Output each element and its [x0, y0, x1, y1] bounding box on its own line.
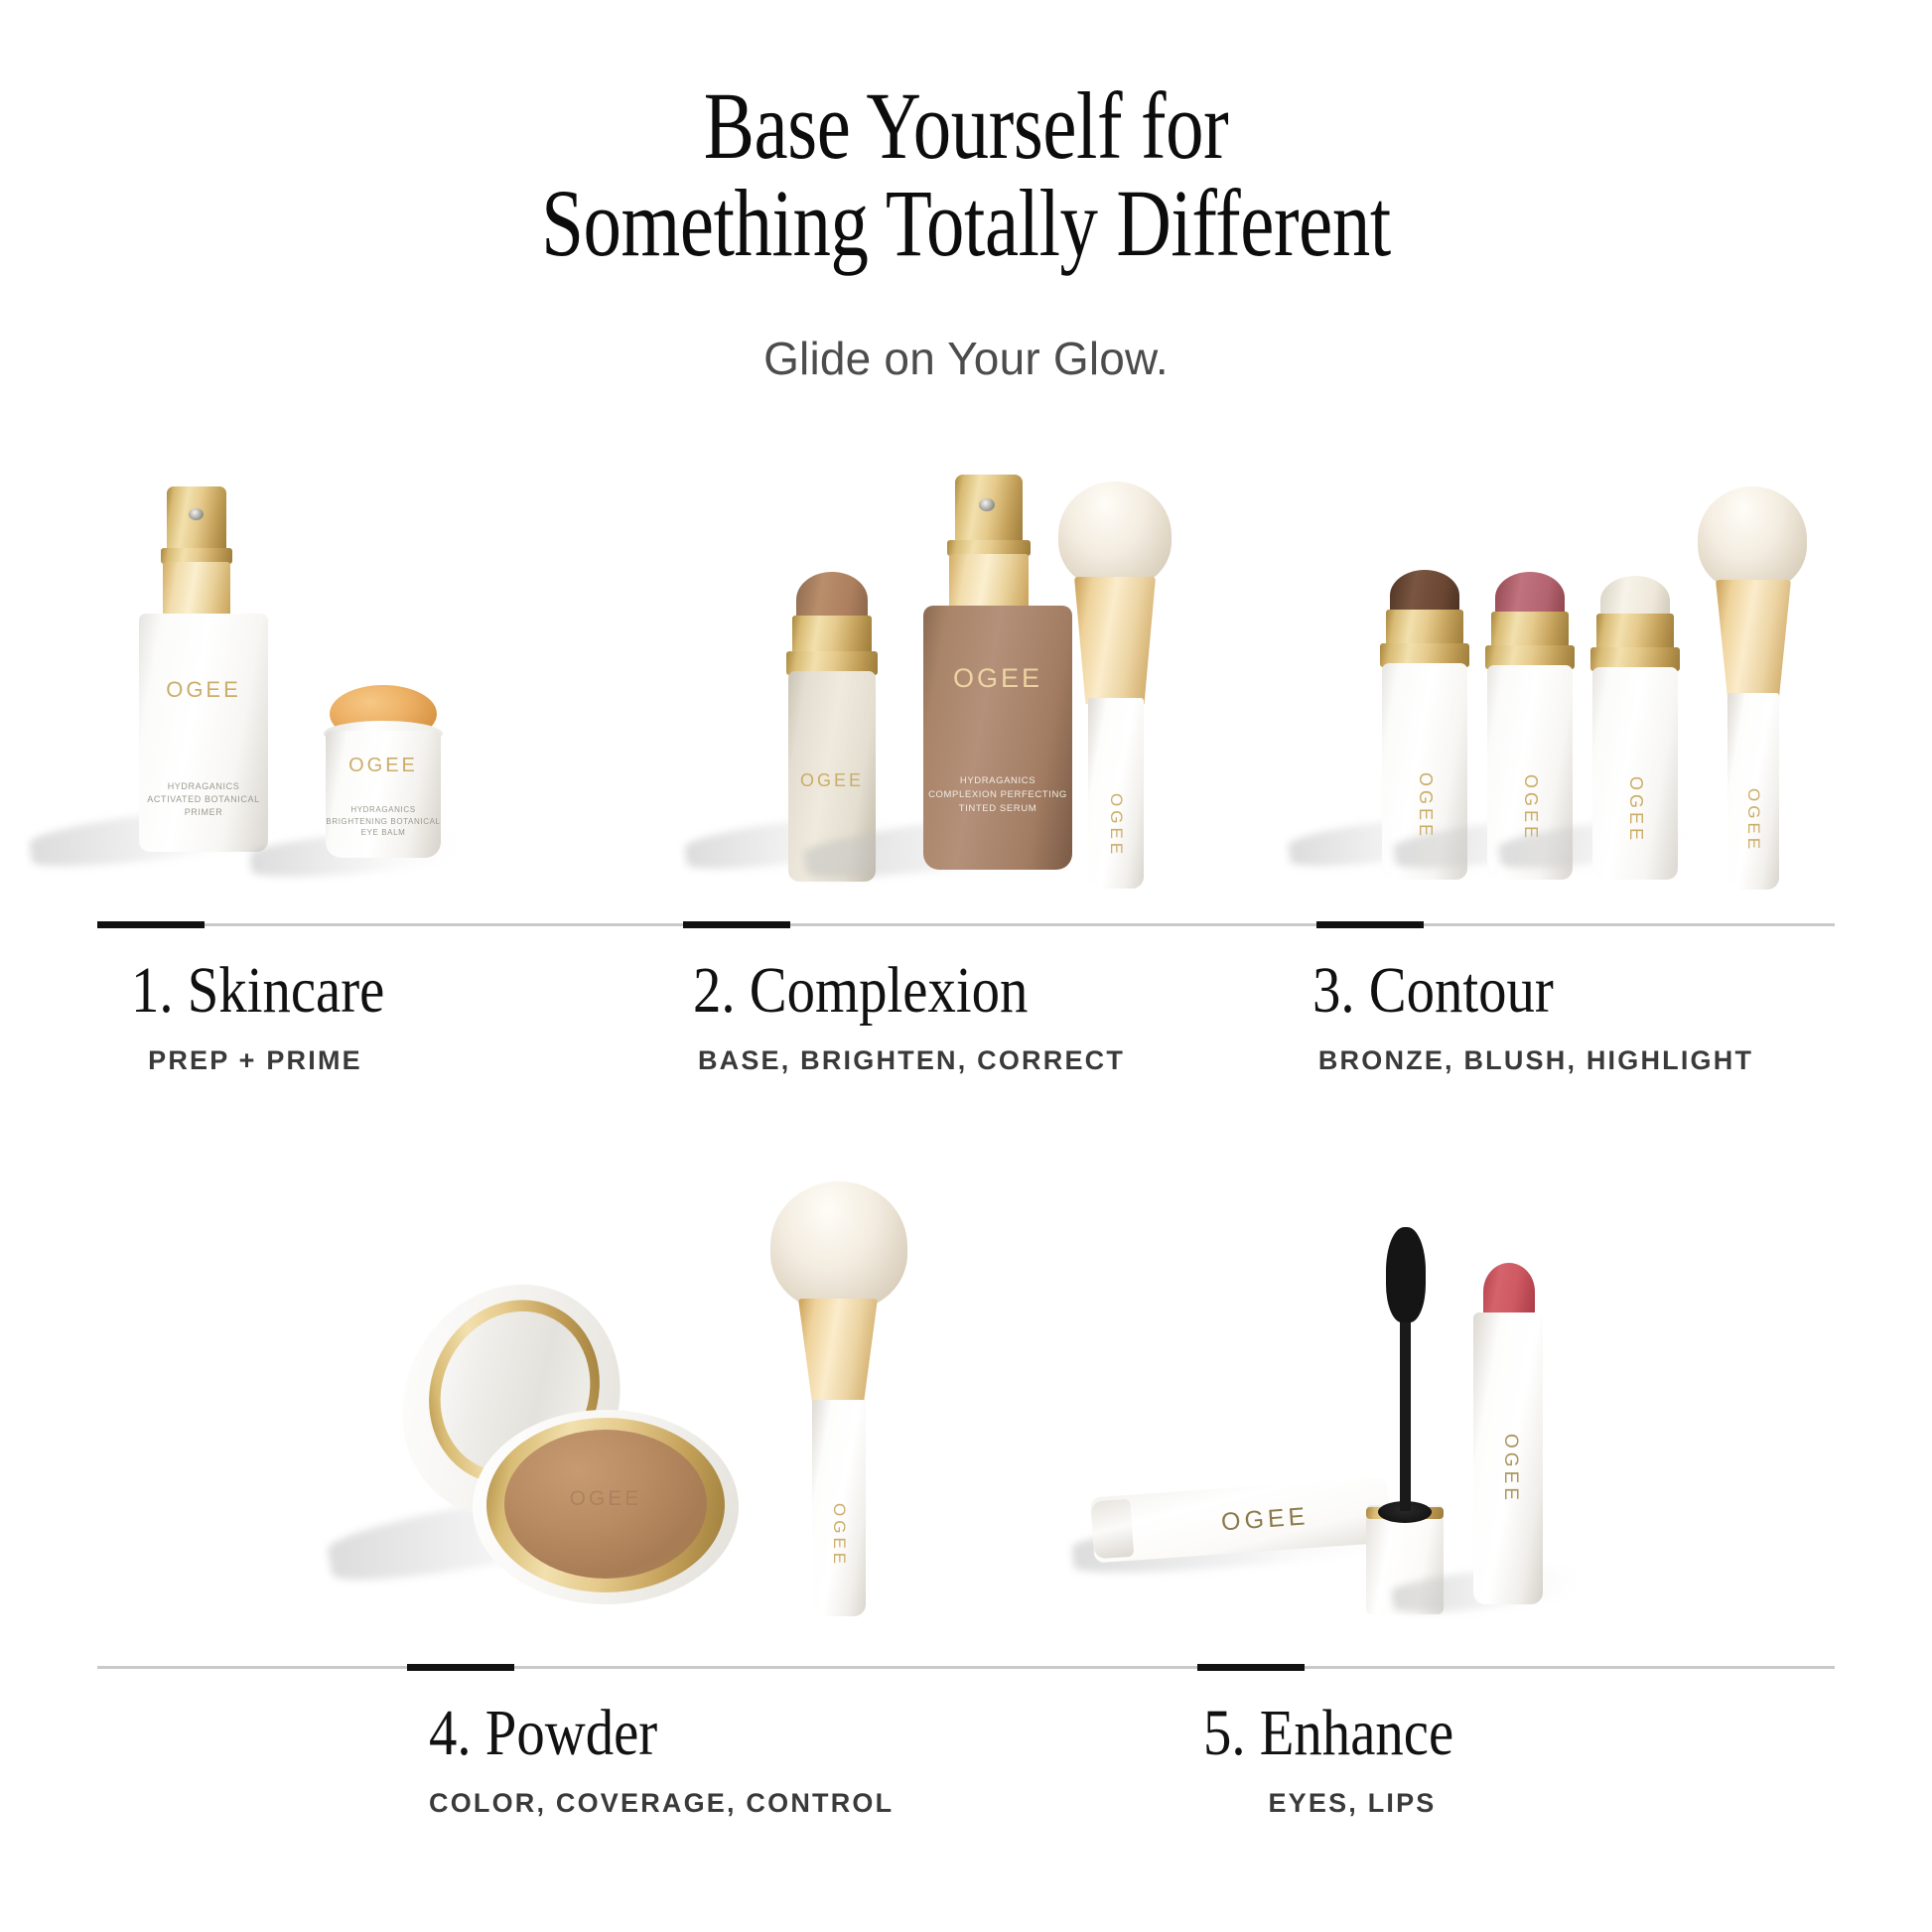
fineprint-line-2: BRIGHTENING BOTANICAL	[326, 816, 441, 828]
brand-logo: OGEE	[1220, 1502, 1310, 1537]
divider-tick-complexion	[683, 921, 790, 928]
brush-handle: OGEE	[1088, 698, 1144, 889]
brush-handle: OGEE	[1727, 693, 1779, 890]
product-tinted-sculpted-lip-oil-crayon: OGEE	[1461, 1263, 1557, 1612]
brush-bristles	[770, 1181, 907, 1311]
serum-bottle-body: OGEE HYDRAGANICS COMPLEXION PERFECTING T…	[923, 606, 1072, 870]
section-subtitle: BRONZE, BLUSH, HIGHLIGHT	[1312, 1045, 1759, 1076]
page-title: Base Yourself for Something Totally Diff…	[194, 77, 1739, 272]
product-fineprint: HYDRAGANICS BRIGHTENING BOTANICAL EYE BA…	[326, 804, 441, 839]
brand-logo: OGEE	[1415, 772, 1436, 840]
pump-nozzle-dot	[979, 498, 995, 511]
fineprint-line-3: PRIMER	[139, 806, 268, 819]
brand-logo: OGEE	[1499, 1434, 1521, 1504]
product-sculpted-face-stick-highlight: OGEE	[1588, 576, 1684, 892]
product-fineprint: HYDRAGANICS ACTIVATED BOTANICAL PRIMER	[139, 780, 268, 819]
stick-collar-upper	[1386, 610, 1463, 645]
brand-logo: OGEE	[923, 663, 1072, 694]
mascara-wand-stem	[1400, 1312, 1411, 1511]
divider-tick-powder	[407, 1664, 514, 1671]
fineprint-line-3: EYE BALM	[326, 827, 441, 839]
stick-collar-upper	[1596, 614, 1674, 649]
section-label-contour: 3. Contour BRONZE, BLUSH, HIGHLIGHT	[1312, 955, 1759, 1076]
section-label-complexion: 2. Complexion BASE, BRIGHTEN, CORRECT	[693, 955, 1130, 1076]
product-fineprint: HYDRAGANICS COMPLEXION PERFECTING TINTED…	[923, 774, 1072, 815]
brush-ferrule	[1716, 580, 1791, 699]
brush-ferrule	[798, 1299, 878, 1406]
section-label-enhance: 5. Enhance EYES, LIPS	[1203, 1698, 1501, 1819]
brand-logo: OGEE	[1743, 788, 1763, 853]
product-complexion-brush: OGEE	[1052, 482, 1177, 889]
section-label-skincare: 1. Skincare PREP + PRIME	[131, 955, 426, 1076]
headline-line-2: Something Totally Different	[194, 175, 1739, 272]
brand-logo: OGEE	[788, 770, 876, 791]
section-subtitle: COLOR, COVERAGE, CONTROL	[429, 1788, 856, 1819]
product-pressed-powder-compact: OGEE	[387, 1291, 755, 1618]
row-2-divider	[97, 1666, 1835, 1669]
poster-canvas: Base Yourself for Something Totally Diff…	[0, 0, 1932, 1932]
product-contour-brush: OGEE	[1694, 486, 1813, 892]
brush-handle: OGEE	[812, 1400, 866, 1616]
jar-body: OGEE HYDRAGANICS BRIGHTENING BOTANICAL E…	[326, 731, 441, 858]
section-subtitle: EYES, LIPS	[1203, 1788, 1501, 1819]
fineprint-line-1: HYDRAGANICS	[923, 774, 1072, 788]
fineprint-line-2: ACTIVATED BOTANICAL	[139, 793, 268, 806]
stick-collar-upper	[792, 616, 872, 653]
section-subtitle: PREP + PRIME	[131, 1045, 379, 1076]
mascara-wand-brush	[1386, 1227, 1426, 1322]
section-title: 2. Complexion	[693, 955, 1068, 1028]
bottle-body: OGEE HYDRAGANICS ACTIVATED BOTANICAL PRI…	[139, 614, 268, 852]
mascara-tube-end	[1090, 1499, 1134, 1560]
fineprint-line-2: COMPLEXION PERFECTING	[923, 788, 1072, 802]
brush-ferrule	[1074, 577, 1156, 704]
section-title: 5. Enhance	[1203, 1698, 1459, 1770]
section-title: 3. Contour	[1312, 955, 1697, 1028]
brush-bristles	[1058, 482, 1172, 589]
divider-tick-contour	[1316, 921, 1424, 928]
brand-logo: OGEE	[829, 1503, 849, 1568]
product-powder-brush: OGEE	[764, 1181, 913, 1618]
fineprint-line-1: HYDRAGANICS	[139, 780, 268, 793]
section-title: 4. Powder	[429, 1698, 796, 1770]
product-complexion-perfecting-tinted-serum: OGEE HYDRAGANICS COMPLEXION PERFECTING T…	[923, 475, 1072, 892]
brush-bristles	[1698, 486, 1807, 592]
divider-tick-enhance	[1197, 1664, 1305, 1671]
page-subtitle: Glide on Your Glow.	[0, 332, 1932, 385]
pump-neck	[949, 554, 1029, 612]
product-activated-botanical-primer: OGEE HYDRAGANICS ACTIVATED BOTANICAL PRI…	[139, 486, 268, 884]
stick-body: OGEE	[1592, 667, 1678, 880]
section-subtitle: BASE, BRIGHTEN, CORRECT	[693, 1045, 1130, 1076]
brand-logo: OGEE	[139, 677, 268, 703]
lip-crayon-body: OGEE	[1473, 1312, 1543, 1604]
brand-logo: OGEE	[1625, 776, 1646, 844]
section-label-powder: 4. Powder COLOR, COVERAGE, CONTROL	[429, 1698, 856, 1819]
fineprint-line-3: TINTED SERUM	[923, 802, 1072, 816]
stick-collar-upper	[1491, 612, 1569, 647]
pump-neck	[163, 562, 230, 618]
product-lengthening-mascara: OGEE	[1092, 1221, 1509, 1618]
compact-pan-logo: OGEE	[504, 1487, 707, 1511]
section-title: 1. Skincare	[131, 955, 384, 1028]
brand-logo: OGEE	[1106, 793, 1126, 858]
divider-tick-skincare	[97, 921, 205, 928]
product-brightening-botanical-eye-balm: OGEE HYDRAGANICS BRIGHTENING BOTANICAL E…	[320, 685, 447, 889]
fineprint-line-1: HYDRAGANICS	[326, 804, 441, 816]
pump-nozzle-dot	[189, 508, 204, 520]
brand-logo: OGEE	[326, 755, 441, 777]
headline-line-1: Base Yourself for	[704, 72, 1229, 179]
row-1-divider	[97, 923, 1835, 926]
